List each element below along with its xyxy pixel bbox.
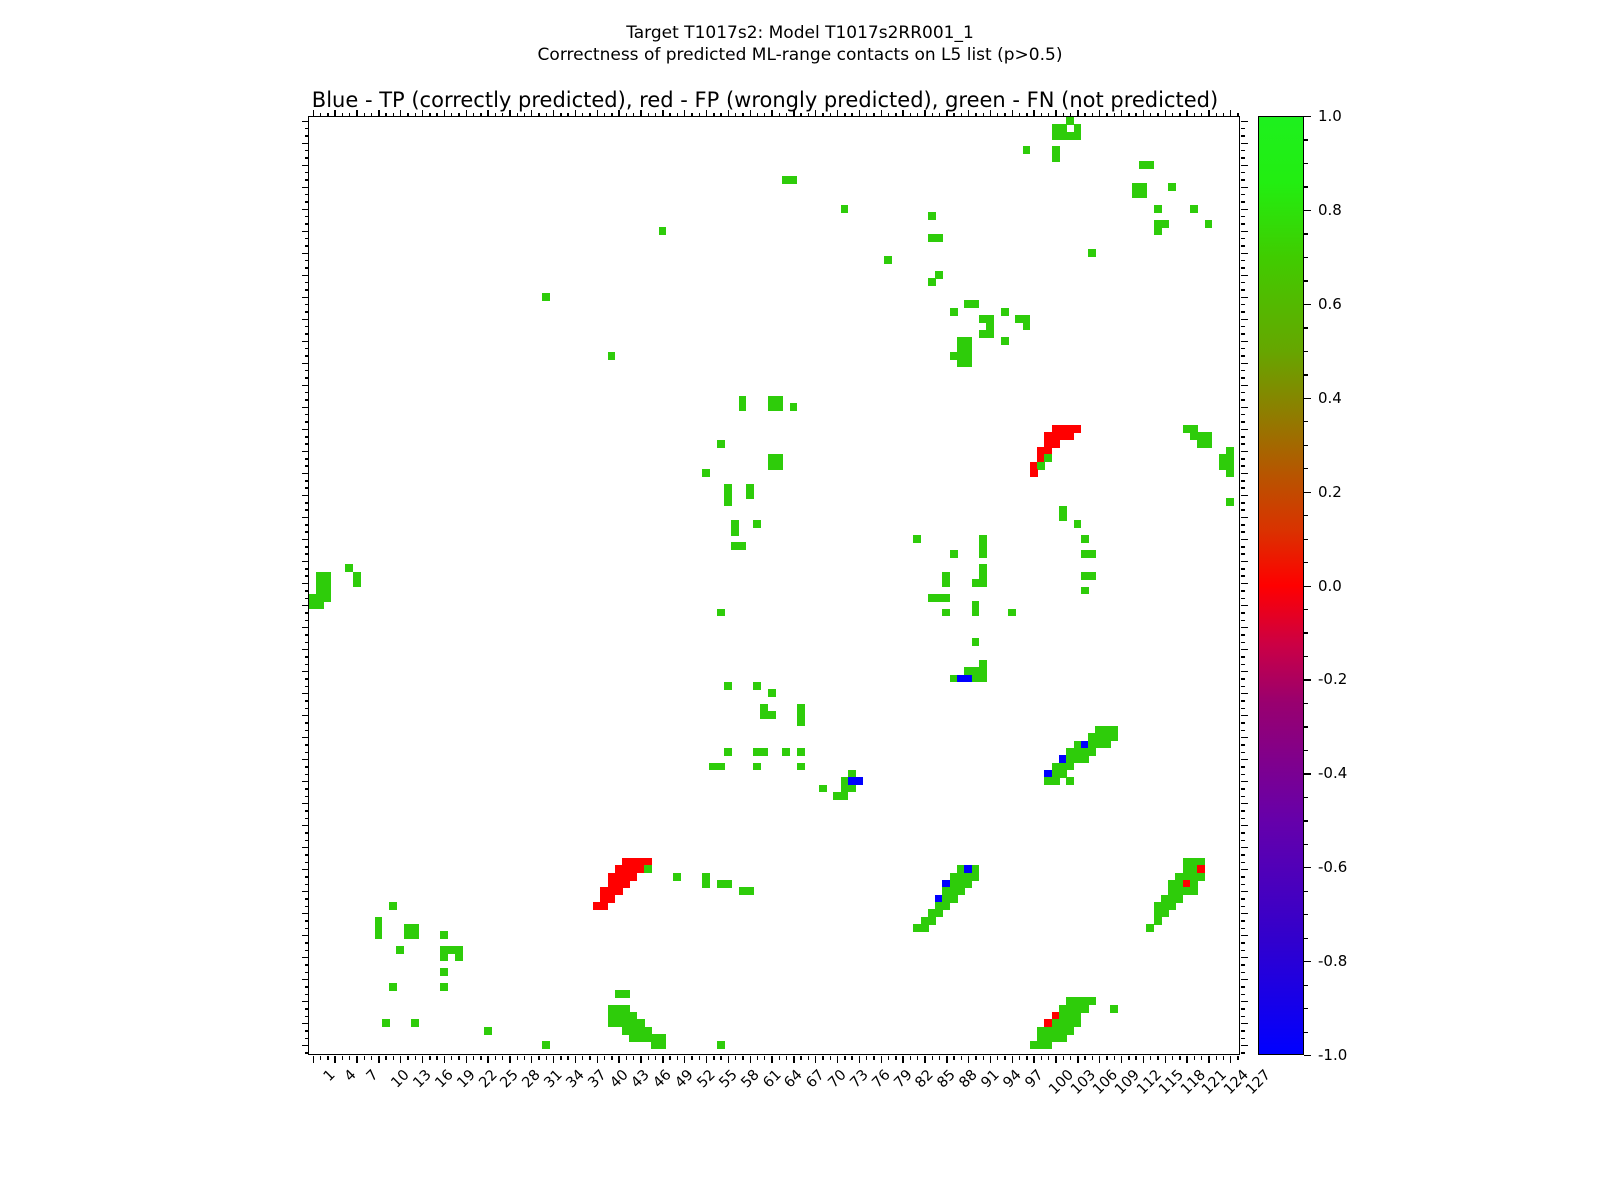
y-tick — [302, 1001, 309, 1002]
y-tick-right — [1241, 150, 1245, 151]
y-tick — [305, 157, 309, 158]
y-tick-right — [1241, 583, 1248, 584]
x-tick — [342, 1056, 343, 1060]
y-tick — [305, 854, 309, 855]
y-tick — [302, 649, 309, 650]
x-tick-top — [866, 113, 867, 117]
y-tick-right — [1241, 906, 1245, 907]
contact-cell — [615, 887, 623, 895]
x-tick-top — [429, 113, 430, 117]
contact-cell — [739, 542, 747, 550]
colorbar-tick — [1304, 280, 1308, 281]
y-tick-right — [1241, 722, 1245, 723]
y-tick-right — [1241, 862, 1245, 863]
x-tick — [706, 1056, 707, 1063]
y-tick-right — [1241, 876, 1245, 877]
x-tick-top — [779, 113, 780, 117]
y-tick — [305, 1016, 309, 1017]
y-tick — [302, 891, 309, 892]
x-tick — [313, 1056, 314, 1063]
y-tick — [305, 194, 309, 195]
y-tick — [305, 216, 309, 217]
contact-cell — [986, 330, 994, 338]
contact-cell — [979, 579, 987, 587]
contact-cell — [1226, 498, 1234, 506]
x-tick-top — [575, 110, 576, 117]
contact-cell — [979, 550, 987, 558]
x-tick — [757, 1056, 758, 1060]
x-tick — [924, 1056, 925, 1063]
contact-cell — [1059, 1034, 1067, 1042]
x-tick-top — [815, 110, 816, 117]
x-tick — [626, 1056, 627, 1060]
y-tick — [305, 730, 309, 731]
x-tick-label: 16 — [432, 1067, 456, 1091]
x-tick-top — [1055, 110, 1056, 117]
x-tick-top — [1201, 113, 1202, 117]
y-tick — [302, 737, 309, 738]
colorbar-tick — [1304, 586, 1311, 587]
x-tick — [953, 1056, 954, 1060]
y-tick-right — [1241, 209, 1248, 210]
x-tick — [902, 1056, 903, 1063]
y-tick-right — [1241, 825, 1248, 826]
contact-cell — [928, 212, 936, 220]
y-tick-right — [1241, 289, 1245, 290]
x-tick-top — [560, 113, 561, 117]
contact-cell — [1074, 132, 1082, 140]
colorbar-tick — [1304, 233, 1308, 234]
contact-cell — [1205, 440, 1213, 448]
y-tick-right — [1241, 370, 1245, 371]
x-tick-top — [567, 113, 568, 117]
x-tick-top — [546, 113, 547, 117]
y-tick-right — [1241, 686, 1245, 687]
contact-cell — [972, 300, 980, 308]
y-tick-right — [1241, 231, 1248, 232]
x-tick-top — [917, 113, 918, 117]
x-tick-top — [626, 113, 627, 117]
y-tick-right — [1241, 950, 1245, 951]
x-tick-label: 19 — [454, 1067, 478, 1091]
y-tick — [305, 686, 309, 687]
y-tick — [302, 143, 309, 144]
colorbar-tick — [1304, 844, 1308, 845]
y-tick-right — [1241, 297, 1248, 298]
y-tick-right — [1241, 642, 1245, 643]
y-tick-right — [1241, 935, 1248, 936]
colorbar-tick — [1304, 773, 1311, 774]
y-tick-right — [1241, 509, 1245, 510]
x-tick-top — [961, 113, 962, 117]
x-tick-top — [808, 113, 809, 117]
colorbar-tick-label: -0.6 — [1318, 858, 1347, 876]
x-tick-label: 91 — [978, 1067, 1002, 1091]
y-tick — [305, 575, 309, 576]
contact-cell — [1154, 205, 1162, 213]
y-tick — [305, 421, 309, 422]
contact-cell — [1008, 609, 1016, 617]
contact-cell — [411, 1019, 419, 1027]
x-tick — [800, 1056, 801, 1060]
x-tick — [1121, 1056, 1122, 1063]
figure-canvas: Target T1017s2: Model T1017s2RR001_1 Cor… — [0, 0, 1600, 1200]
x-tick — [961, 1056, 962, 1060]
x-tick-top — [997, 113, 998, 117]
y-tick — [302, 319, 309, 320]
colorbar-tick — [1304, 609, 1308, 610]
contact-cell — [950, 895, 958, 903]
x-tick — [1070, 1056, 1071, 1060]
y-tick-right — [1241, 473, 1248, 474]
x-tick-top — [422, 110, 423, 117]
y-tick — [305, 436, 309, 437]
x-tick-top — [604, 113, 605, 117]
contact-cell — [1139, 190, 1147, 198]
y-tick-right — [1241, 216, 1245, 217]
x-tick — [669, 1056, 670, 1060]
x-tick — [742, 1056, 743, 1060]
x-tick — [1150, 1056, 1151, 1060]
y-tick — [305, 260, 309, 261]
x-tick — [1012, 1056, 1013, 1063]
y-tick-right — [1241, 869, 1248, 870]
y-tick — [305, 502, 309, 503]
x-tick — [509, 1056, 510, 1063]
contact-cell — [739, 403, 747, 411]
x-tick-top — [968, 110, 969, 117]
y-tick-right — [1241, 128, 1245, 129]
y-tick-right — [1241, 678, 1245, 679]
y-tick-right — [1241, 333, 1245, 334]
x-tick-top — [691, 113, 692, 117]
y-tick — [305, 964, 309, 965]
x-tick — [1033, 1056, 1034, 1063]
contact-cell — [724, 748, 732, 756]
x-tick-label: 49 — [673, 1067, 697, 1091]
y-tick — [302, 451, 309, 452]
x-tick — [480, 1056, 481, 1060]
contact-cell — [964, 880, 972, 888]
contact-cell — [1059, 513, 1067, 521]
y-tick — [305, 267, 309, 268]
contact-cell — [1205, 220, 1213, 228]
y-tick — [305, 458, 309, 459]
x-tick — [793, 1056, 794, 1063]
y-tick — [305, 377, 309, 378]
contact-cell — [790, 403, 798, 411]
x-tick-top — [400, 110, 401, 117]
x-tick — [895, 1056, 896, 1060]
contact-cell — [768, 711, 776, 719]
x-tick-top — [924, 110, 925, 117]
x-tick — [349, 1056, 350, 1060]
y-tick-right — [1241, 671, 1248, 672]
contact-cell — [440, 953, 448, 961]
x-tick-top — [1237, 113, 1238, 117]
y-tick-right — [1241, 840, 1245, 841]
y-tick-right — [1241, 737, 1248, 738]
contact-cell — [717, 440, 725, 448]
contact-cell — [1037, 462, 1045, 470]
y-tick — [305, 201, 309, 202]
colorbar-tick-label: -0.2 — [1318, 670, 1347, 688]
colorbar-tick — [1304, 351, 1308, 352]
x-tick — [429, 1056, 430, 1060]
x-tick — [1055, 1056, 1056, 1063]
contact-cell — [1154, 227, 1162, 235]
contact-cell — [1088, 572, 1096, 580]
y-tick-right — [1241, 135, 1245, 136]
x-tick-top — [378, 110, 379, 117]
y-tick-right — [1241, 275, 1248, 276]
contact-cell — [484, 1027, 492, 1035]
x-tick-top — [524, 113, 525, 117]
x-tick-top — [1048, 113, 1049, 117]
contact-cell — [1088, 550, 1096, 558]
contact-cell — [1168, 183, 1176, 191]
y-tick-right — [1241, 201, 1245, 202]
y-tick — [305, 465, 309, 466]
colorbar-tick — [1304, 1055, 1311, 1056]
x-tick — [1216, 1056, 1217, 1060]
y-tick-right — [1241, 245, 1245, 246]
colorbar-tick — [1304, 867, 1311, 868]
x-tick — [939, 1056, 940, 1060]
x-tick — [713, 1056, 714, 1060]
contact-cell — [782, 748, 790, 756]
x-tick-top — [1063, 113, 1064, 117]
x-tick — [1172, 1056, 1173, 1060]
y-tick — [305, 994, 309, 995]
contact-cell — [1161, 220, 1169, 228]
x-tick-top — [1099, 110, 1100, 117]
x-tick-top — [1012, 110, 1013, 117]
y-tick-right — [1241, 443, 1245, 444]
contact-cell — [942, 609, 950, 617]
y-tick — [305, 862, 309, 863]
colorbar-tick — [1304, 985, 1308, 986]
y-tick-right — [1241, 517, 1248, 518]
axes-title-legend: Blue - TP (correctly predicted), red - F… — [0, 88, 1530, 112]
y-tick-right — [1241, 363, 1248, 364]
x-tick-label: 31 — [541, 1067, 565, 1091]
y-tick-right — [1241, 986, 1245, 987]
contact-cell — [1110, 1005, 1118, 1013]
y-tick — [305, 920, 309, 921]
x-tick — [1157, 1056, 1158, 1060]
y-tick — [305, 1008, 309, 1009]
y-tick — [302, 693, 309, 694]
contact-cell — [848, 785, 856, 793]
x-tick — [699, 1056, 700, 1060]
y-tick — [305, 788, 309, 789]
x-tick-top — [487, 110, 488, 117]
y-tick — [305, 612, 309, 613]
x-tick — [334, 1056, 335, 1063]
contact-cell — [775, 403, 783, 411]
x-tick — [517, 1056, 518, 1060]
y-tick-right — [1241, 891, 1248, 892]
y-tick-right — [1241, 495, 1248, 496]
y-tick-right — [1241, 568, 1245, 569]
y-tick — [305, 928, 309, 929]
x-tick — [466, 1056, 467, 1063]
y-tick-right — [1241, 913, 1248, 914]
x-tick-top — [393, 113, 394, 117]
y-tick — [302, 495, 309, 496]
y-tick-right — [1241, 194, 1245, 195]
colorbar-tick — [1304, 679, 1311, 680]
x-tick — [400, 1056, 401, 1063]
colorbar-tick — [1304, 703, 1308, 704]
colorbar-tick — [1304, 304, 1311, 305]
y-tick-right — [1241, 854, 1245, 855]
y-tick-right — [1241, 972, 1245, 973]
contact-cell — [841, 792, 849, 800]
contact-cell — [622, 990, 630, 998]
contact-cell — [1175, 895, 1183, 903]
y-tick — [305, 598, 309, 599]
y-tick-right — [1241, 421, 1245, 422]
x-tick-top — [589, 113, 590, 117]
y-tick-right — [1241, 348, 1245, 349]
y-tick — [305, 656, 309, 657]
y-tick — [302, 913, 309, 914]
y-tick-right — [1241, 1008, 1245, 1009]
x-tick-top — [742, 113, 743, 117]
x-tick — [1084, 1056, 1085, 1060]
colorbar-tick — [1304, 820, 1308, 821]
y-tick — [305, 128, 309, 129]
y-tick — [305, 906, 309, 907]
contact-cell — [753, 520, 761, 528]
colorbar-tick-label: 0.4 — [1318, 389, 1342, 407]
y-tick-right — [1241, 994, 1245, 995]
colorbar-tick — [1304, 914, 1308, 915]
x-tick-top — [983, 113, 984, 117]
contact-cell — [790, 176, 798, 184]
x-tick — [888, 1056, 889, 1060]
x-tick-label: 73 — [847, 1067, 871, 1091]
x-tick-top — [822, 113, 823, 117]
y-tick-right — [1241, 458, 1245, 459]
x-tick-top — [975, 113, 976, 117]
x-tick-label: 4 — [342, 1067, 360, 1085]
colorbar-tick-label: -1.0 — [1318, 1046, 1347, 1064]
x-tick-top — [1041, 113, 1042, 117]
x-tick — [975, 1056, 976, 1060]
x-tick — [859, 1056, 860, 1063]
x-tick-top — [407, 113, 408, 117]
x-tick — [1026, 1056, 1027, 1060]
x-tick-top — [1216, 113, 1217, 117]
x-tick — [378, 1056, 379, 1063]
x-tick — [546, 1056, 547, 1060]
y-tick-right — [1241, 238, 1245, 239]
y-tick-right — [1241, 656, 1245, 657]
x-tick-top — [735, 113, 736, 117]
y-tick-right — [1241, 436, 1245, 437]
y-tick — [302, 1045, 309, 1046]
x-tick-top — [538, 113, 539, 117]
x-tick-top — [618, 110, 619, 117]
x-tick — [764, 1056, 765, 1060]
x-tick — [866, 1056, 867, 1060]
x-tick-top — [662, 110, 663, 117]
y-tick-right — [1241, 818, 1245, 819]
y-tick — [305, 744, 309, 745]
y-tick — [305, 1038, 309, 1039]
x-tick — [444, 1056, 445, 1063]
contact-cell — [542, 1041, 550, 1049]
y-tick-right — [1241, 693, 1248, 694]
contact-cell — [1074, 425, 1082, 433]
x-tick — [728, 1056, 729, 1063]
x-tick-top — [713, 113, 714, 117]
x-tick — [1208, 1056, 1209, 1063]
contact-cell — [972, 609, 980, 617]
y-tick-right — [1241, 341, 1248, 342]
contact-cell — [1146, 924, 1154, 932]
contact-cell — [1066, 1027, 1074, 1035]
x-tick-top — [1033, 110, 1034, 117]
contact-map-plot-area[interactable] — [308, 116, 1240, 1055]
y-tick-right — [1241, 752, 1245, 753]
y-tick-right — [1241, 627, 1248, 628]
x-tick-top — [1114, 113, 1115, 117]
x-tick — [662, 1056, 663, 1063]
x-tick-top — [1077, 110, 1078, 117]
y-tick — [305, 392, 309, 393]
x-tick — [983, 1056, 984, 1060]
y-tick-right — [1241, 979, 1248, 980]
y-tick — [302, 1023, 309, 1024]
x-tick — [436, 1056, 437, 1060]
contact-cell — [884, 256, 892, 264]
y-tick-right — [1241, 1038, 1245, 1039]
y-tick — [302, 165, 309, 166]
colorbar-tick — [1304, 163, 1308, 164]
x-tick — [604, 1056, 605, 1060]
contact-cell — [440, 931, 448, 939]
x-tick-top — [1208, 110, 1209, 117]
colorbar-tick — [1304, 797, 1308, 798]
x-tick — [1165, 1056, 1166, 1063]
contact-cell — [1066, 432, 1074, 440]
x-tick — [786, 1056, 787, 1060]
x-tick-top — [1165, 110, 1166, 117]
x-tick — [1063, 1056, 1064, 1060]
x-tick — [407, 1056, 408, 1060]
x-tick-top — [356, 110, 357, 117]
contact-cell — [608, 352, 616, 360]
y-tick — [305, 348, 309, 349]
y-tick — [302, 979, 309, 980]
y-tick-right — [1241, 539, 1248, 540]
y-tick — [305, 700, 309, 701]
y-tick — [305, 245, 309, 246]
x-tick — [356, 1056, 357, 1063]
colorbar-tick — [1304, 938, 1308, 939]
x-tick-label: 55 — [716, 1067, 740, 1091]
x-tick-top — [385, 113, 386, 117]
y-tick-right — [1241, 267, 1245, 268]
y-tick-right — [1241, 1052, 1245, 1053]
contact-cell — [1023, 322, 1031, 330]
y-tick-right — [1241, 282, 1245, 283]
contact-cell — [702, 880, 710, 888]
